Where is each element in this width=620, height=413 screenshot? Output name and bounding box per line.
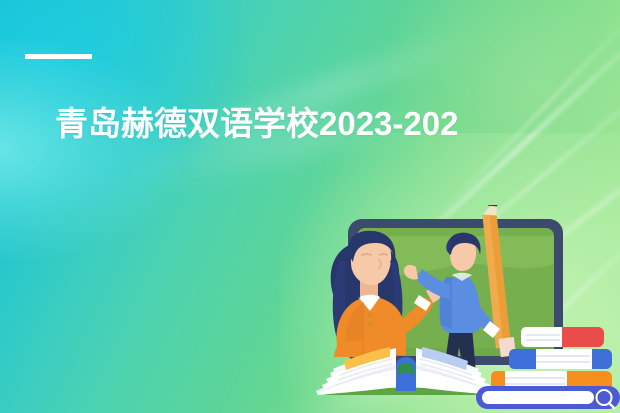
- cyan-glow-secondary: [0, 40, 180, 260]
- banner-headline: 青岛赫德双语学校2023-202: [55, 104, 615, 144]
- education-illustration: [300, 205, 620, 413]
- green-glow-top-right: [380, 0, 620, 200]
- promo-banner: 青岛赫德双语学校2023-202: [0, 0, 620, 413]
- search-bar: [476, 386, 620, 409]
- book-top: [521, 327, 604, 347]
- book-middle: [509, 349, 612, 369]
- accent-divider: [25, 54, 92, 59]
